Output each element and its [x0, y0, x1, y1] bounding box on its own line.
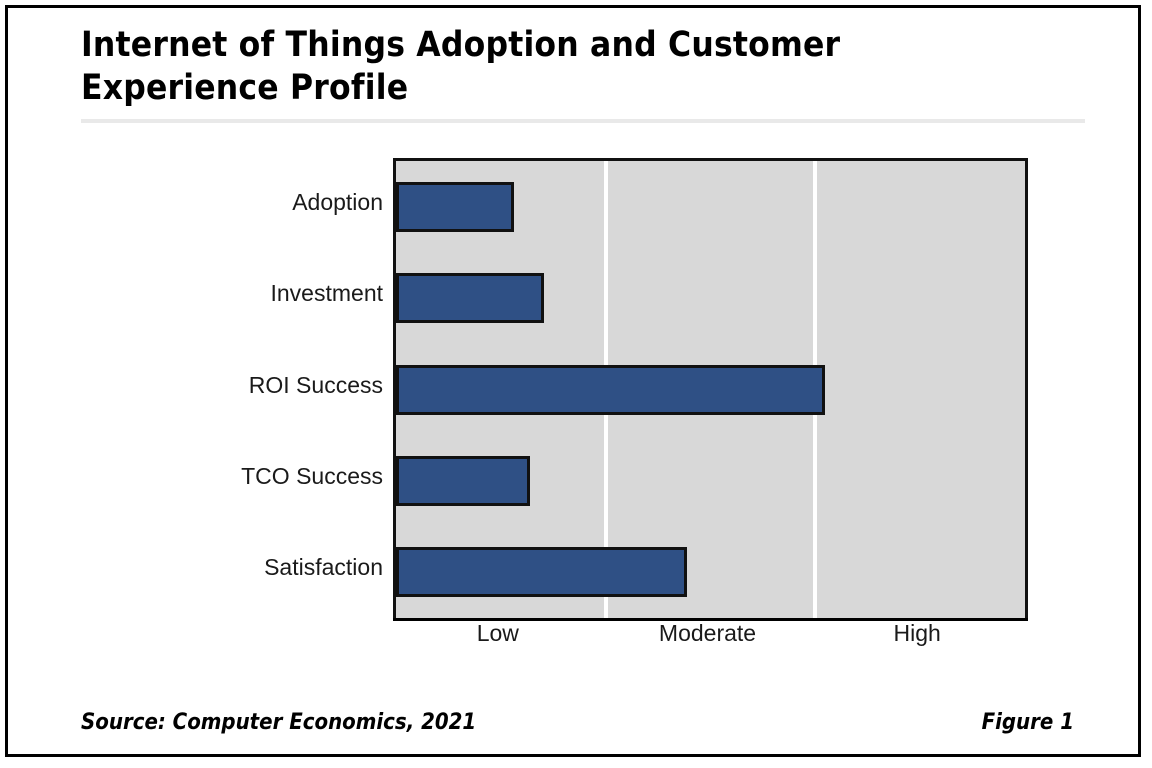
- category-label-satisfaction: Satisfaction: [63, 554, 383, 581]
- bar-investment: [396, 273, 544, 323]
- category-label-adoption: Adoption: [63, 189, 383, 216]
- bar-tco-success: [396, 456, 530, 506]
- category-label-tco-success: TCO Success: [63, 463, 383, 490]
- tick-label-moderate: Moderate: [659, 620, 756, 647]
- x-axis-tick-labels: LowModerateHigh: [393, 620, 1022, 660]
- bar-roi-success: [396, 365, 825, 415]
- source-note: Source: Computer Economics, 2021: [81, 710, 476, 735]
- y-axis-category-labels: AdoptionInvestmentROI SuccessTCO Success…: [53, 158, 383, 615]
- tick-label-low: Low: [477, 620, 519, 647]
- bar-adoption: [396, 182, 514, 232]
- plot-area: [393, 158, 1028, 621]
- figure-number-label: Figure 1: [982, 710, 1074, 735]
- category-label-roi-success: ROI Success: [63, 372, 383, 399]
- category-label-investment: Investment: [63, 280, 383, 307]
- tick-label-high: High: [894, 620, 941, 647]
- figure-frame: Internet of Things Adoption and Customer…: [5, 5, 1141, 757]
- bar-satisfaction: [396, 547, 687, 597]
- chart-container: AdoptionInvestmentROI SuccessTCO Success…: [8, 8, 1144, 760]
